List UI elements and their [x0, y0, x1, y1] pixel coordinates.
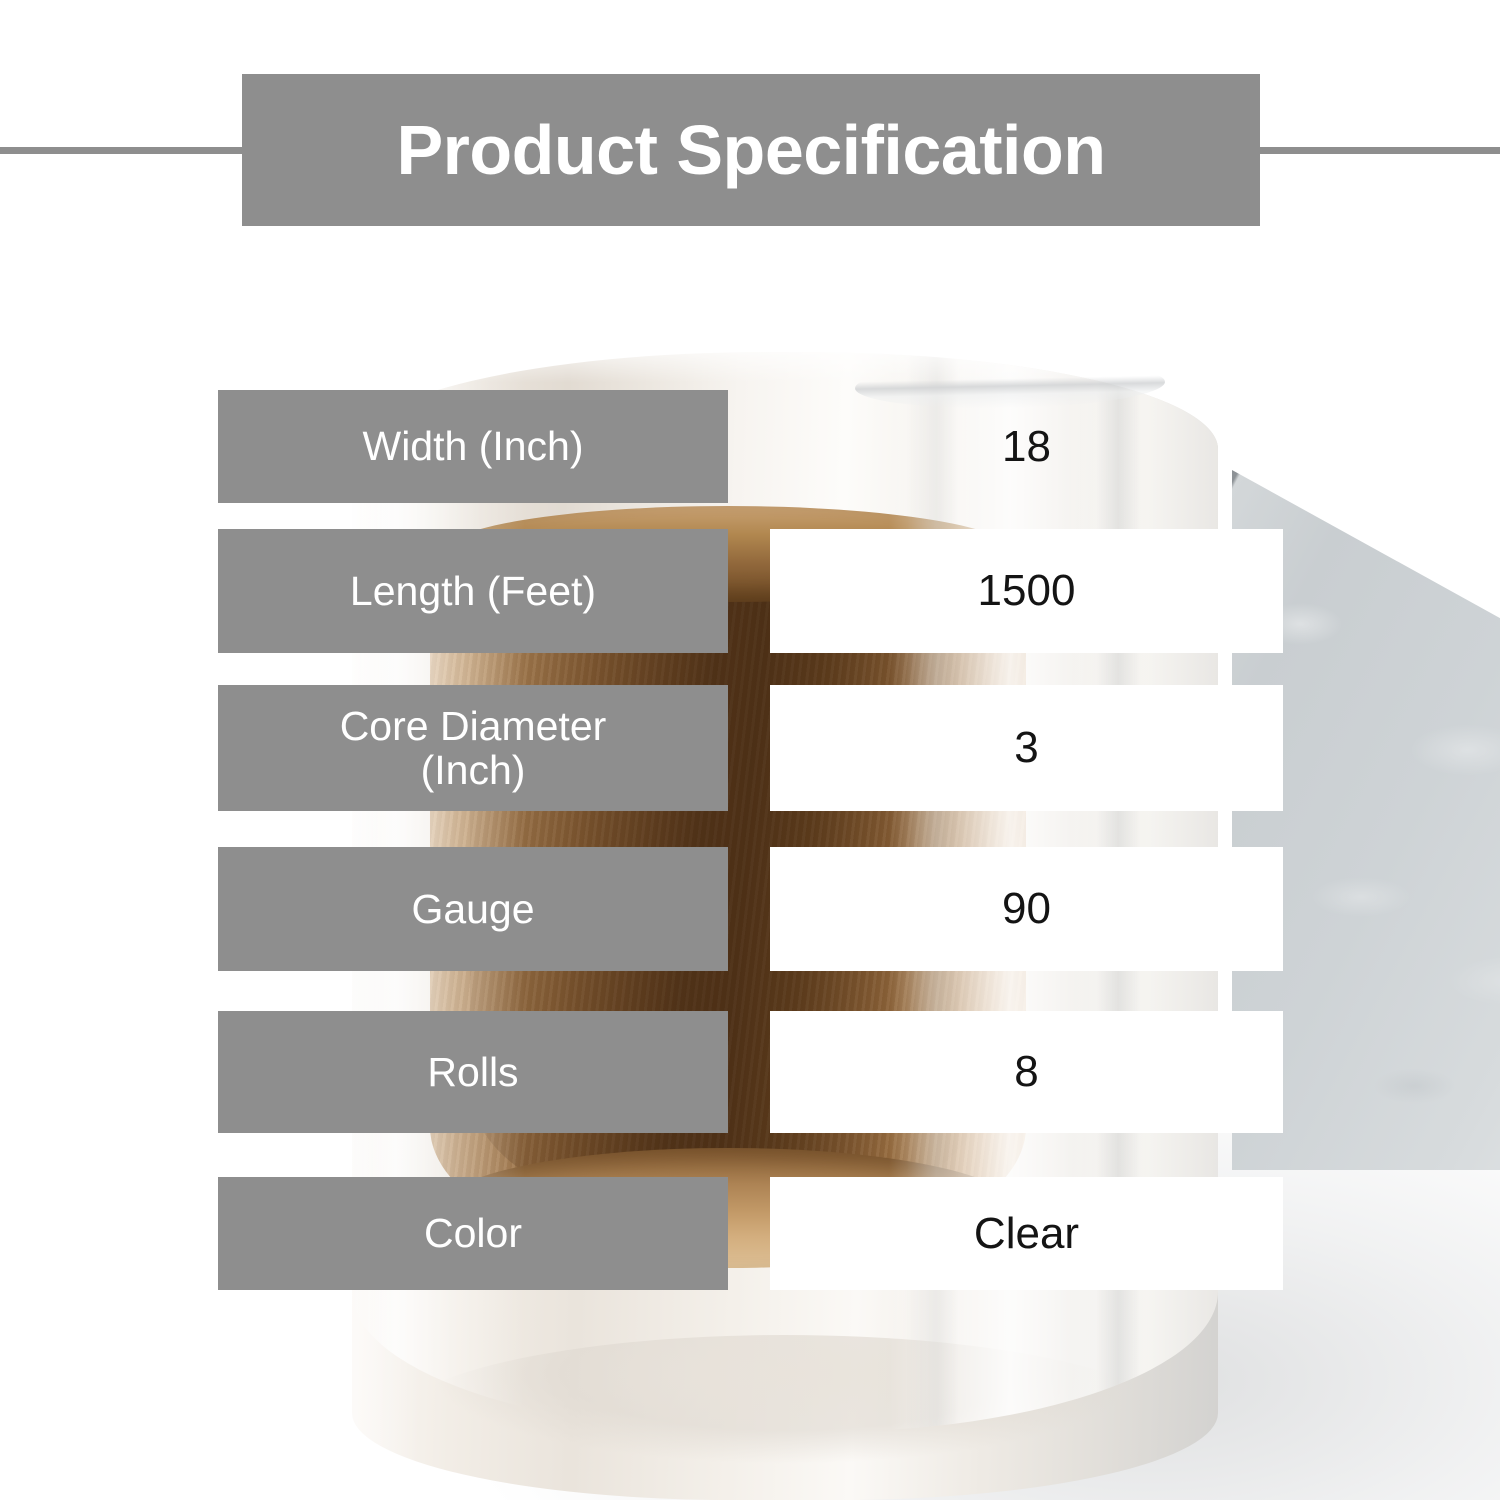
table-row: Rolls 8 [218, 1011, 1283, 1133]
spec-value-text: 90 [1002, 887, 1051, 931]
product-specification-page: Product Specification Width (Inch) 18 Le… [0, 0, 1500, 1500]
table-row: Gauge 90 [218, 847, 1283, 971]
table-row: Color Clear [218, 1177, 1283, 1290]
spec-value-gauge: 90 [770, 847, 1283, 971]
spec-label-width: Width (Inch) [218, 390, 728, 503]
spec-label-length: Length (Feet) [218, 529, 728, 653]
spec-value-text: 1500 [978, 569, 1076, 613]
spec-label-gauge: Gauge [218, 847, 728, 971]
row-gap [728, 847, 770, 971]
spec-value-length: 1500 [770, 529, 1283, 653]
spec-label-text: Color [424, 1211, 522, 1255]
row-gap [728, 1011, 770, 1133]
page-title: Product Specification [396, 115, 1105, 185]
spec-label-text: Rolls [427, 1050, 518, 1094]
table-row: Core Diameter (Inch) 3 [218, 685, 1283, 811]
spec-label-line1: Core Diameter [340, 703, 607, 749]
spec-label-core-diameter: Core Diameter (Inch) [218, 685, 728, 811]
spec-value-text: 3 [1014, 726, 1038, 770]
row-gap [728, 390, 770, 503]
table-row: Width (Inch) 18 [218, 390, 1283, 503]
spec-value-text: 8 [1014, 1050, 1038, 1094]
row-gap [728, 529, 770, 653]
row-gap [728, 685, 770, 811]
header-banner: Product Specification [242, 74, 1260, 226]
spec-label-text: Length (Feet) [350, 569, 596, 613]
spec-value-core-diameter: 3 [770, 685, 1283, 811]
spec-label-color: Color [218, 1177, 728, 1290]
row-gap [728, 1177, 770, 1290]
spec-label-rolls: Rolls [218, 1011, 728, 1133]
spec-value-rolls: 8 [770, 1011, 1283, 1133]
spec-value-text: Clear [974, 1212, 1079, 1256]
spec-value-text: 18 [1002, 425, 1051, 469]
spec-label-text: Core Diameter (Inch) [340, 704, 607, 793]
spec-label-line2: (Inch) [340, 748, 607, 792]
spec-label-text: Gauge [411, 887, 534, 931]
table-row: Length (Feet) 1500 [218, 529, 1283, 653]
specification-table: Width (Inch) 18 Length (Feet) 1500 Core … [218, 390, 1283, 1290]
spec-label-text: Width (Inch) [363, 424, 584, 468]
spec-value-color: Clear [770, 1177, 1283, 1290]
spec-value-width: 18 [770, 390, 1283, 503]
